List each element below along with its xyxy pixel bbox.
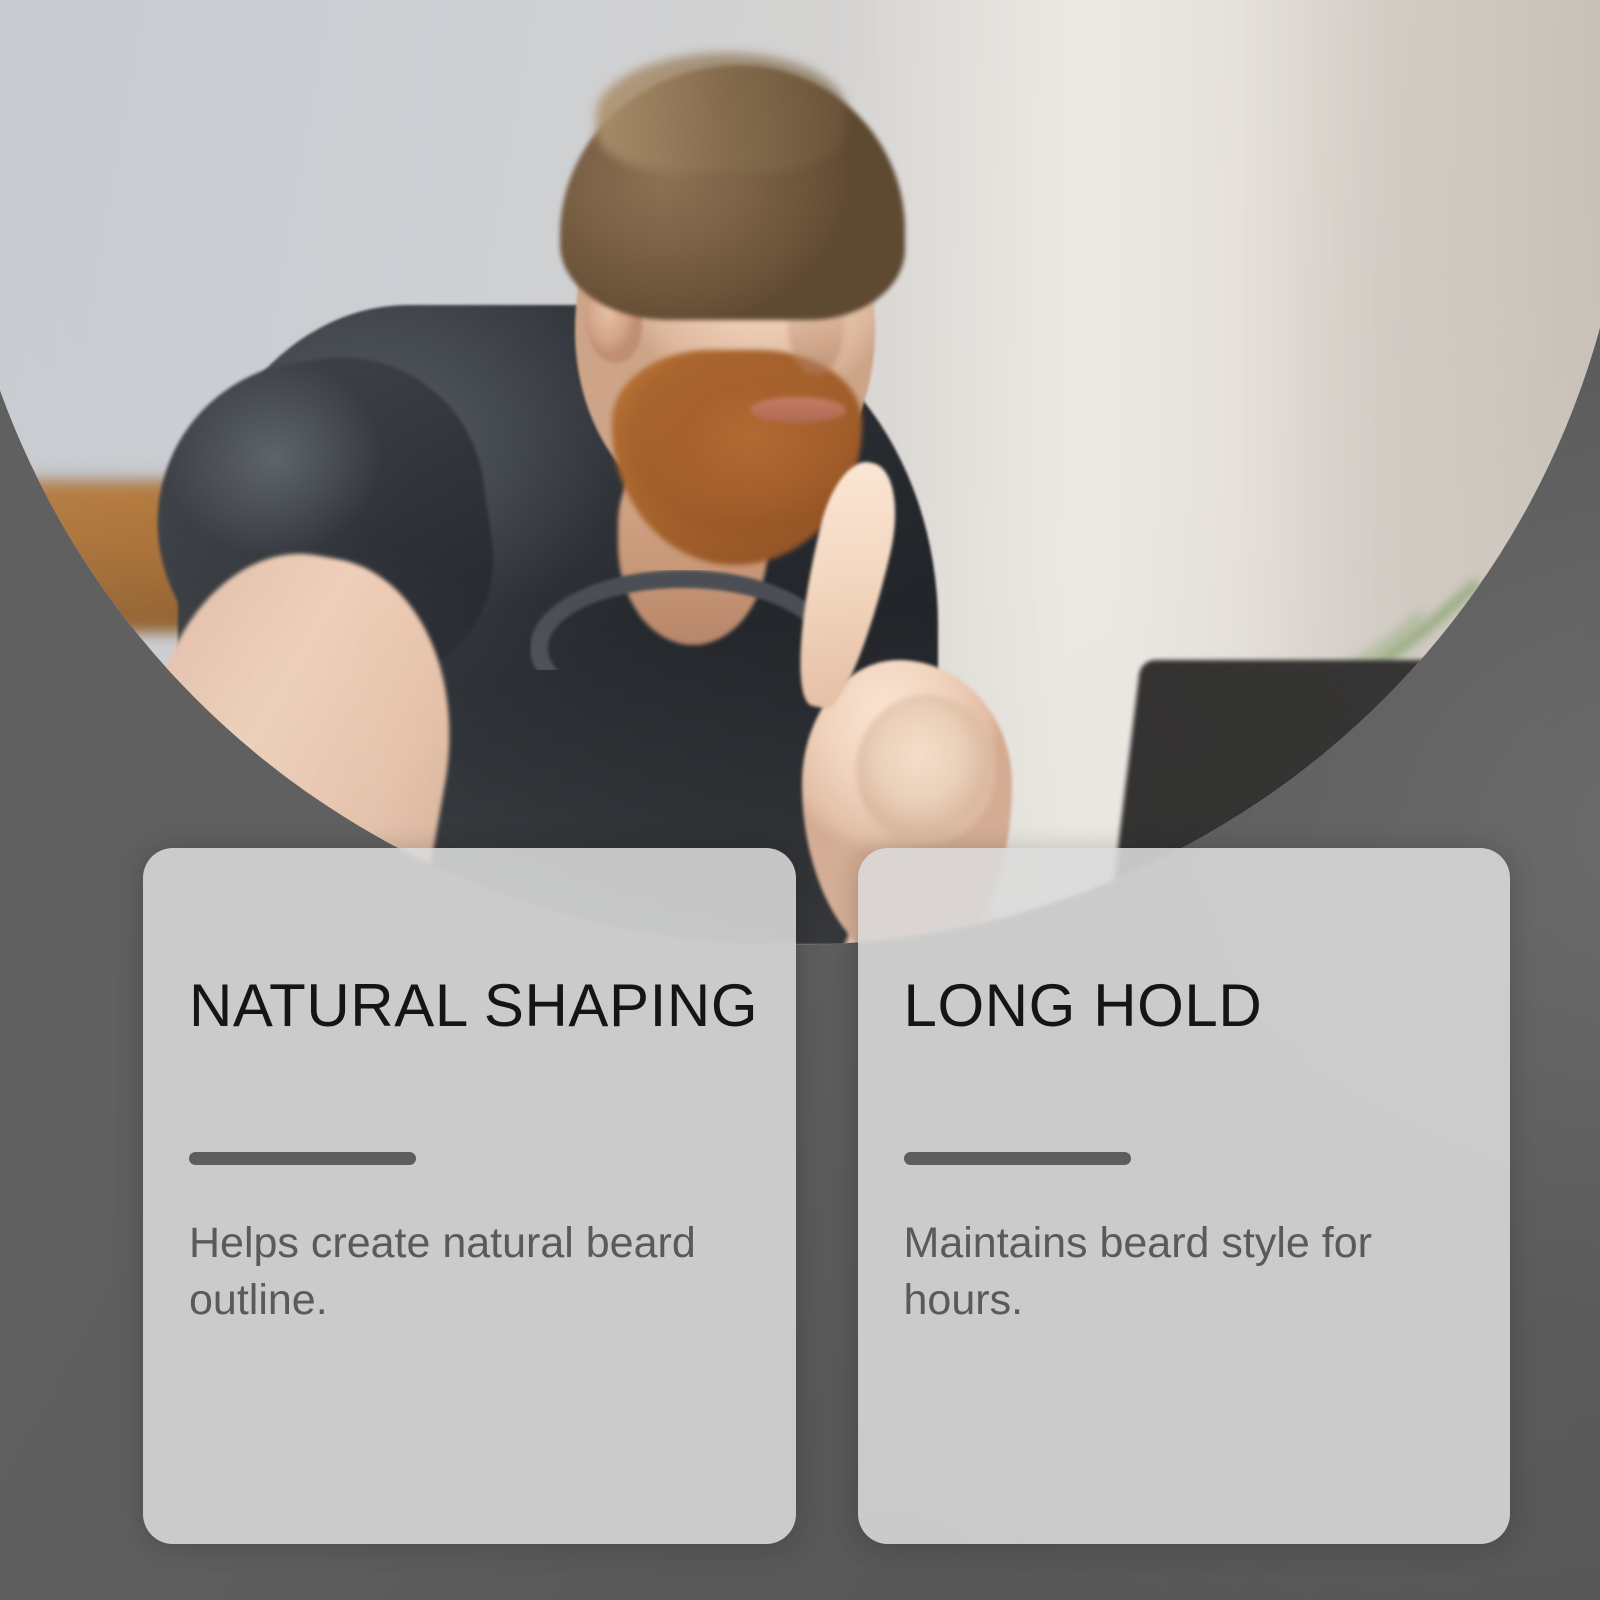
feature-card-divider — [189, 1152, 416, 1165]
feature-card-title: LONG HOLD — [904, 976, 1465, 1036]
feature-card-natural-shaping[interactable]: NATURAL SHAPING Helps create natural bea… — [143, 848, 796, 1544]
photo-hair-highlight — [596, 53, 846, 173]
photo-knuckles — [856, 695, 996, 845]
feature-card-description: Helps create natural beard outline. — [189, 1215, 709, 1329]
hero-photo-image — [0, 0, 1600, 945]
promo-graphic: NATURAL SHAPING Helps create natural bea… — [0, 0, 1600, 1600]
feature-card-description: Maintains beard style for hours. — [904, 1215, 1424, 1329]
photo-person — [0, 0, 1600, 945]
photo-lips — [750, 397, 846, 423]
feature-card-long-hold[interactable]: LONG HOLD Maintains beard style for hour… — [858, 848, 1511, 1544]
feature-card-list: NATURAL SHAPING Helps create natural bea… — [143, 848, 1510, 1544]
feature-card-divider — [904, 1152, 1131, 1165]
hero-circle-photo — [0, 0, 1600, 945]
feature-card-title: NATURAL SHAPING — [189, 976, 750, 1036]
